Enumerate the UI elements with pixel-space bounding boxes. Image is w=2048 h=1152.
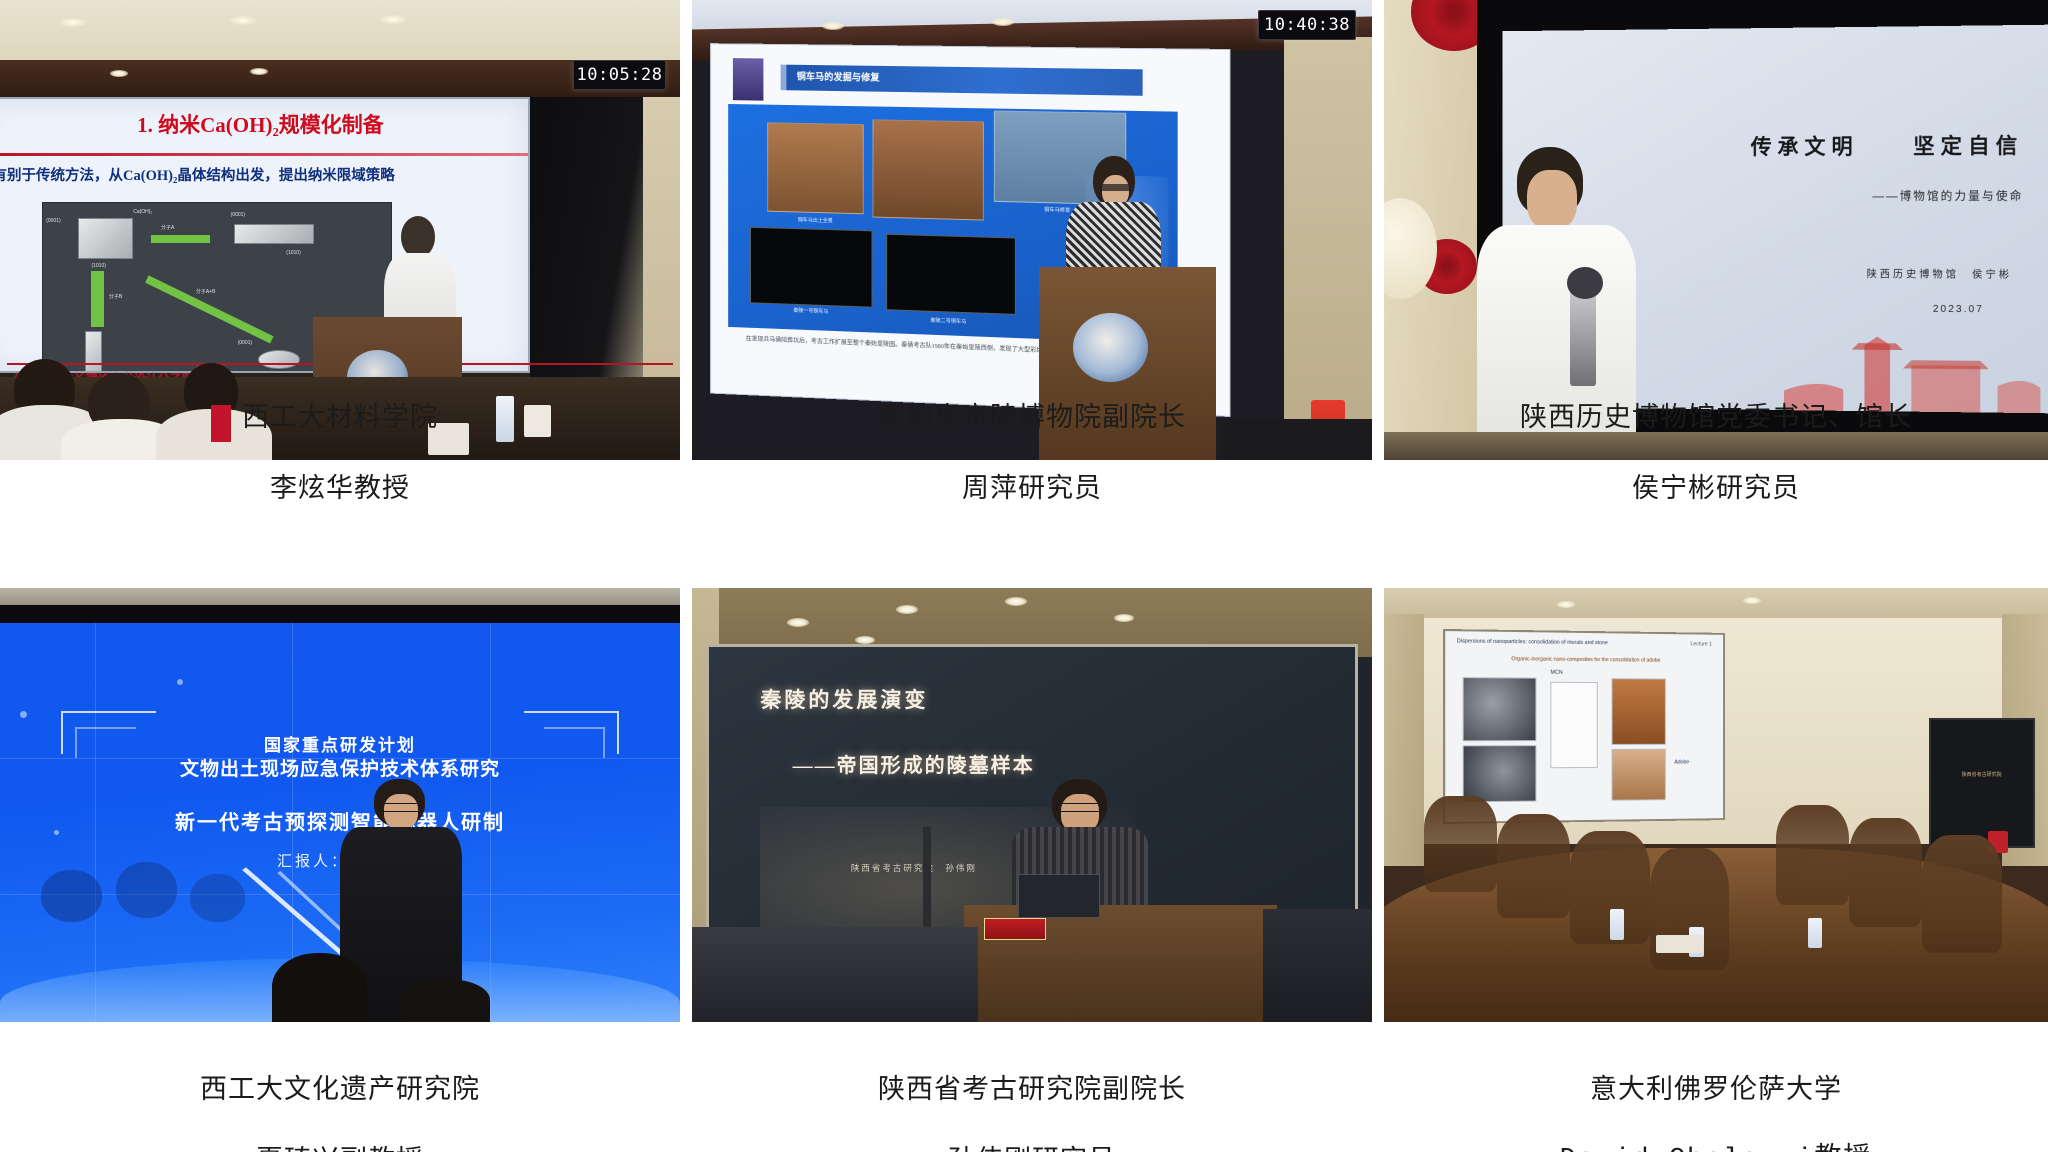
projection-label: MCN	[1550, 670, 1562, 676]
slide-topic-line: 新一代考古预探测智能机器人研制	[0, 806, 680, 835]
photo-xia-qixing[interactable]: 国家重点研发计划 文物出土现场应急保护技术体系研究 新一代考古预探测智能机器人研…	[0, 588, 680, 1022]
photo-grid: 10:05:28 1. 纳米Ca(OH)₂规模化制备 有别于传统方法，从Ca(O…	[0, 0, 2048, 1152]
caption-line-2: David Chelazzi教授	[1384, 1143, 2048, 1152]
caption-line-1: 陕西历史博物馆党委书记、馆长	[1384, 400, 2048, 436]
downlight-icon	[230, 16, 256, 25]
glasses-icon	[1056, 803, 1102, 812]
projection-lecture-label: Lecture 1	[1690, 642, 1711, 648]
digital-clock: 10:05:28	[573, 60, 666, 90]
laptop	[1018, 874, 1100, 917]
slide-project-line: 文物出土现场应急保护技术体系研究	[0, 754, 680, 781]
caption-line-2: 周萍研究员	[692, 471, 1372, 507]
chariot-photo	[750, 227, 872, 307]
arrow-down-icon	[91, 271, 103, 328]
grid-cell-2: 10:40:38 铜车马的发掘与修复 铜车马出土全景 铜车马修复 秦陵一号铜车马…	[692, 0, 1372, 460]
glasses-icon	[1100, 184, 1131, 191]
downlight-icon	[855, 636, 875, 644]
caption-line-1: 西工大材料学院	[0, 400, 680, 436]
micrograph-image	[1462, 677, 1536, 742]
caption-line-2: 李炫华教授	[0, 471, 680, 507]
tile-caption: 铜车马出土全景	[746, 215, 886, 226]
diagram-label: (0001)	[46, 218, 60, 224]
diagram-label: (1010)	[91, 263, 105, 269]
digital-clock: 10:40:38	[1258, 10, 1356, 40]
grid-cell-4: 国家重点研发计划 文物出土现场应急保护技术体系研究 新一代考古预探测智能机器人研…	[0, 588, 680, 1152]
projection-heading: Organic-inorganic nano-composites for th…	[1445, 656, 1722, 665]
diagram-label: 分子A	[161, 224, 174, 231]
slide-header: 铜车马的发掘与修复	[797, 69, 880, 84]
diagram-label: (0001)	[231, 212, 245, 218]
attendee	[1424, 796, 1497, 891]
foreground-wall	[692, 927, 978, 1022]
audience-head-foreground	[272, 953, 367, 1022]
caption-line-2: 侯宁彬研究员	[1384, 471, 2048, 507]
water-bottle	[1610, 909, 1625, 939]
water-bottle	[1808, 918, 1823, 948]
horse-logo-icon	[734, 58, 764, 100]
downlight-icon	[250, 68, 268, 75]
sample-photo	[1611, 678, 1666, 745]
chart-panel	[1550, 682, 1597, 768]
diagram-label: 分子A+B	[196, 288, 216, 295]
led-sparkle	[177, 679, 183, 685]
caption-line-1: 西工大文化遗产研究院	[0, 1072, 680, 1108]
speaker-face	[384, 794, 418, 829]
photo-caption-5: 陕西省考古研究院副院长 孙伟刚研究员	[692, 1036, 1372, 1152]
diagram-label: 分子B	[109, 293, 122, 300]
micrograph-image	[1462, 746, 1536, 803]
projection-label: Adobe	[1674, 760, 1689, 766]
glasses-icon	[379, 803, 421, 812]
slide-header-bar: 铜车马的发掘与修复	[781, 64, 1143, 96]
attendee	[1922, 835, 2002, 952]
attendee	[1849, 818, 1922, 927]
downlight-icon	[1557, 601, 1575, 608]
microphone-head	[1567, 267, 1604, 299]
foreground-wall	[1263, 909, 1372, 1022]
attendee	[1776, 805, 1849, 905]
sample-photo	[1611, 749, 1666, 801]
slide-title: 1. 纳米Ca(OH)₂规模化制备	[25, 109, 495, 139]
wall-display-label: 陕西省考古研究院	[1937, 771, 2027, 778]
speaker-face	[1527, 170, 1577, 230]
slide-program-line: 国家重点研发计划	[0, 731, 680, 756]
diagram-label: (0001)	[238, 340, 252, 346]
audience-silhouette	[41, 870, 102, 922]
downlight-icon	[380, 15, 406, 24]
projection-bullet-text: Dispersions of nanoparticles: consolidat…	[1457, 639, 1608, 647]
chariot-photo	[886, 233, 1016, 315]
downlight-icon	[60, 18, 86, 27]
speaker-head	[401, 216, 435, 257]
photo-caption-3: 陕西历史博物馆党委书记、馆长 侯宁彬研究员	[1384, 364, 2048, 542]
photo-caption-1: 西工大材料学院 李炫华教授	[0, 364, 680, 542]
photo-david-chelazzi[interactable]: Dispersions of nanoparticles: consolidat…	[1384, 588, 2048, 1022]
downlight-icon	[1743, 597, 1761, 604]
audience-silhouette	[190, 874, 244, 922]
pillar	[1384, 614, 1424, 866]
title-rule	[0, 153, 528, 156]
slide-title: 秦陵的发展演变	[760, 684, 928, 714]
caption-line-2: 夏琦兴副教授	[0, 1143, 680, 1152]
downlight-icon	[822, 22, 844, 30]
photo-sun-weigang[interactable]: 秦陵的发展演变 ——帝国形成的陵墓样本 陕西省考古研究院 孙伟刚	[692, 588, 1372, 1022]
slide-subtitle: ——博物馆的力量与使命	[1872, 187, 2023, 203]
projection-screen: Dispersions of nanoparticles: consolidat…	[1443, 629, 1724, 824]
grid-cell-3: 传承文明 坚定自信 ——博物馆的力量与使命 陕西历史博物馆 侯宁彬 2023.0…	[1384, 0, 2048, 460]
grid-cell-5: 秦陵的发展演变 ——帝国形成的陵墓样本 陕西省考古研究院 孙伟刚 陕西省考古研究…	[692, 588, 1372, 1152]
caption-line-1: 秦始皇帝陵博物院副院长	[692, 400, 1372, 436]
diagram-label: Ca(OH)₂	[133, 209, 152, 215]
caption-line-1: 意大利佛罗伦萨大学	[1384, 1072, 2048, 1108]
slide-organization: 陕西历史博物馆 侯宁彬	[1867, 265, 2012, 281]
crystal-cube	[78, 218, 134, 259]
nanosheet	[234, 224, 314, 245]
photo-caption-2: 秦始皇帝陵博物院副院长 周萍研究员	[692, 364, 1372, 542]
downlight-icon	[992, 18, 1014, 26]
notepad	[1656, 935, 1702, 952]
slide-title: 传承文明 坚定自信	[1751, 129, 2024, 160]
tile-caption: 秦陵二号铜车马	[873, 314, 1026, 327]
clock-time: 10:40:38	[1264, 15, 1350, 35]
downlight-icon	[1005, 597, 1027, 606]
wall-display: 陕西省考古研究院	[1929, 718, 2035, 848]
excavation-photo	[873, 120, 985, 220]
downlight-icon	[110, 70, 128, 77]
audience-silhouette	[116, 862, 177, 918]
photo-caption-4: 西工大文化遗产研究院 夏琦兴副教授	[0, 1036, 680, 1152]
photo-collage-page: 10:05:28 1. 纳米Ca(OH)₂规模化制备 有别于传统方法，从Ca(O…	[0, 0, 2048, 1152]
led-sparkle	[20, 711, 27, 718]
grid-cell-1: 10:05:28 1. 纳米Ca(OH)₂规模化制备 有别于传统方法，从Ca(O…	[0, 0, 680, 460]
arrow-right-icon	[151, 235, 210, 243]
caption-line-2: 孙伟刚研究员	[692, 1143, 1372, 1152]
ceiling	[0, 0, 680, 64]
slide-subtitle: 有别于传统方法，从Ca(OH)₂晶体结构出发，提出纳米限域策略	[0, 164, 523, 185]
arrow-diagonal-icon	[145, 275, 273, 343]
diagram-label: (1010)	[286, 250, 300, 256]
slide-subtitle: ——帝国形成的陵墓样本	[793, 749, 1035, 778]
audience-head-foreground	[401, 979, 489, 1022]
downlight-icon	[1114, 614, 1134, 622]
grid-cell-6: Dispersions of nanoparticles: consolidat…	[1384, 588, 2048, 1152]
caption-line-1: 陕西省考古研究院副院长	[692, 1072, 1372, 1108]
attendee	[1497, 814, 1570, 918]
name-plate	[984, 918, 1045, 940]
excavation-photo	[767, 122, 863, 214]
photo-caption-6: 意大利佛罗伦萨大学 David Chelazzi教授	[1384, 1036, 2048, 1152]
clock-time: 10:05:28	[577, 65, 663, 85]
